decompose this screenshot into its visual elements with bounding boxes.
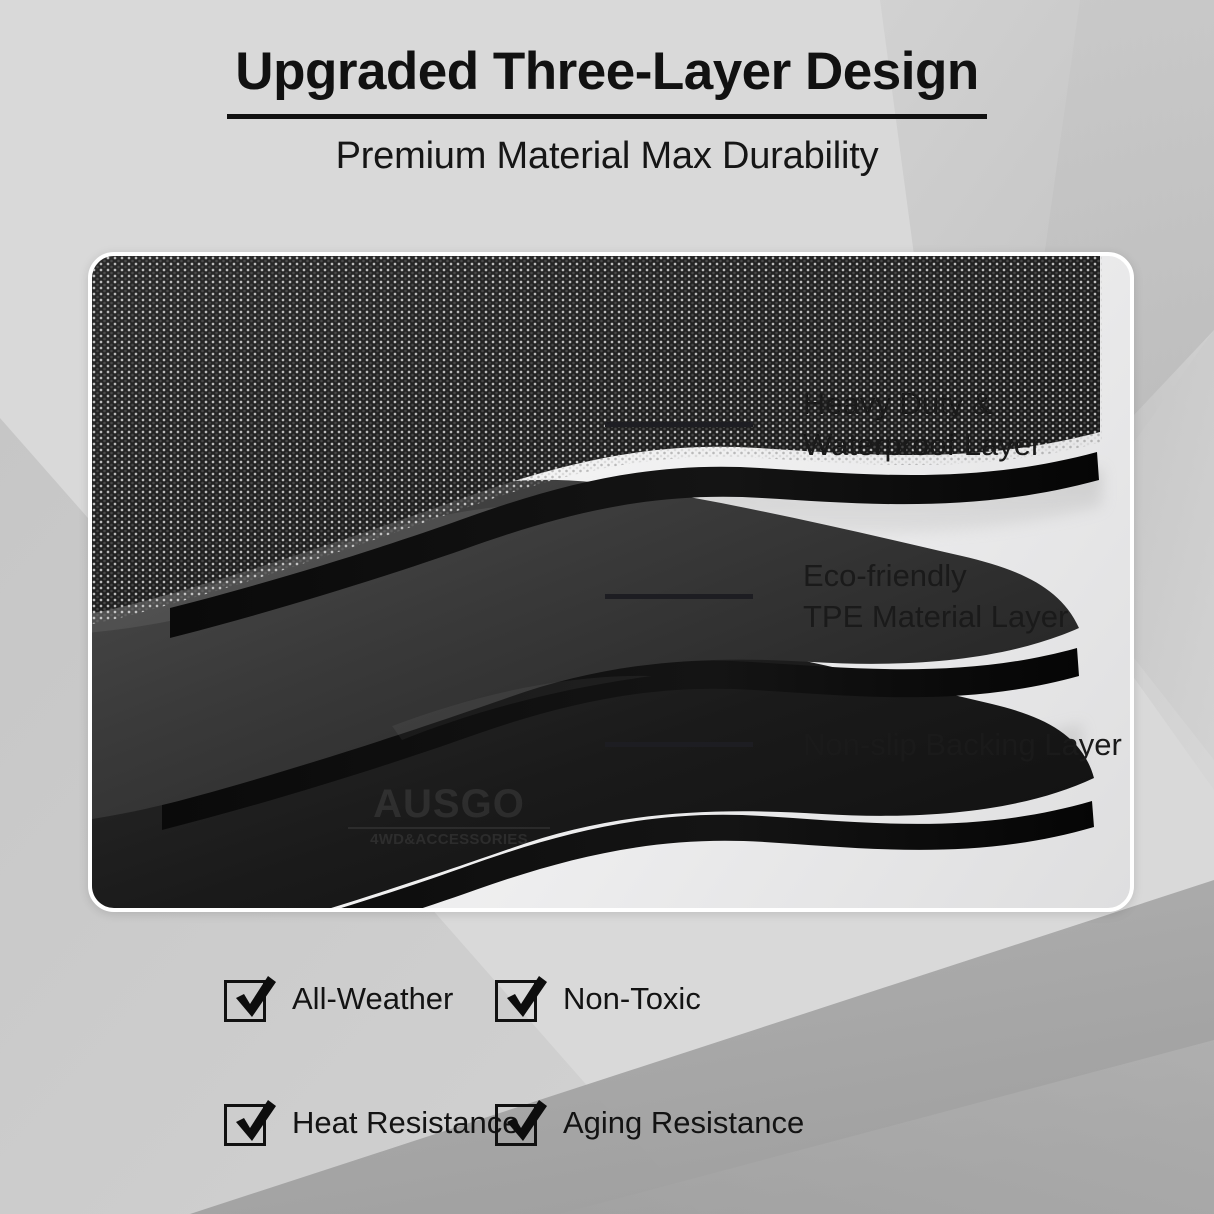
callout-layer-1: Heavy Duty & Waterproof Layer [605,383,1041,465]
checkbox-checked-icon [224,1100,270,1146]
callout-layer-2: Eco-friendly TPE Material Layer [605,555,1068,637]
feature-checklist: All-Weather Non-Toxic Heat Resistance [0,976,1214,1146]
checkbox-checked-icon [224,976,270,1022]
leader-line-3 [605,742,753,747]
page-title: Upgraded Three-Layer Design [0,44,1214,100]
feature-item-aging-resistance: Aging Resistance [470,1100,804,1146]
header: Upgraded Three-Layer Design Premium Mate… [0,44,1214,178]
page-subtitle: Premium Material Max Durability [0,135,1214,178]
feature-label: All-Weather [292,981,453,1017]
checkbox-checked-icon [495,1100,541,1146]
callout-label-2: Eco-friendly TPE Material Layer [803,555,1068,637]
leader-line-2 [605,594,753,599]
callout-layer-3: Non-slip Backing Layer [605,724,1122,765]
feature-item-all-weather: All-Weather [0,976,470,1022]
feature-label: Non-Toxic [563,981,701,1017]
leader-line-1 [605,422,753,427]
callout-label-1: Heavy Duty & Waterproof Layer [803,383,1041,465]
feature-row-2: Heat Resistance Aging Resistance [0,1100,1214,1146]
title-divider [227,114,987,119]
feature-row-1: All-Weather Non-Toxic [0,976,1214,1022]
checkbox-checked-icon [495,976,541,1022]
callout-label-3: Non-slip Backing Layer [803,724,1122,765]
feature-label: Aging Resistance [563,1105,804,1141]
feature-item-heat-resistance: Heat Resistance [0,1100,470,1146]
feature-item-non-toxic: Non-Toxic [470,976,701,1022]
